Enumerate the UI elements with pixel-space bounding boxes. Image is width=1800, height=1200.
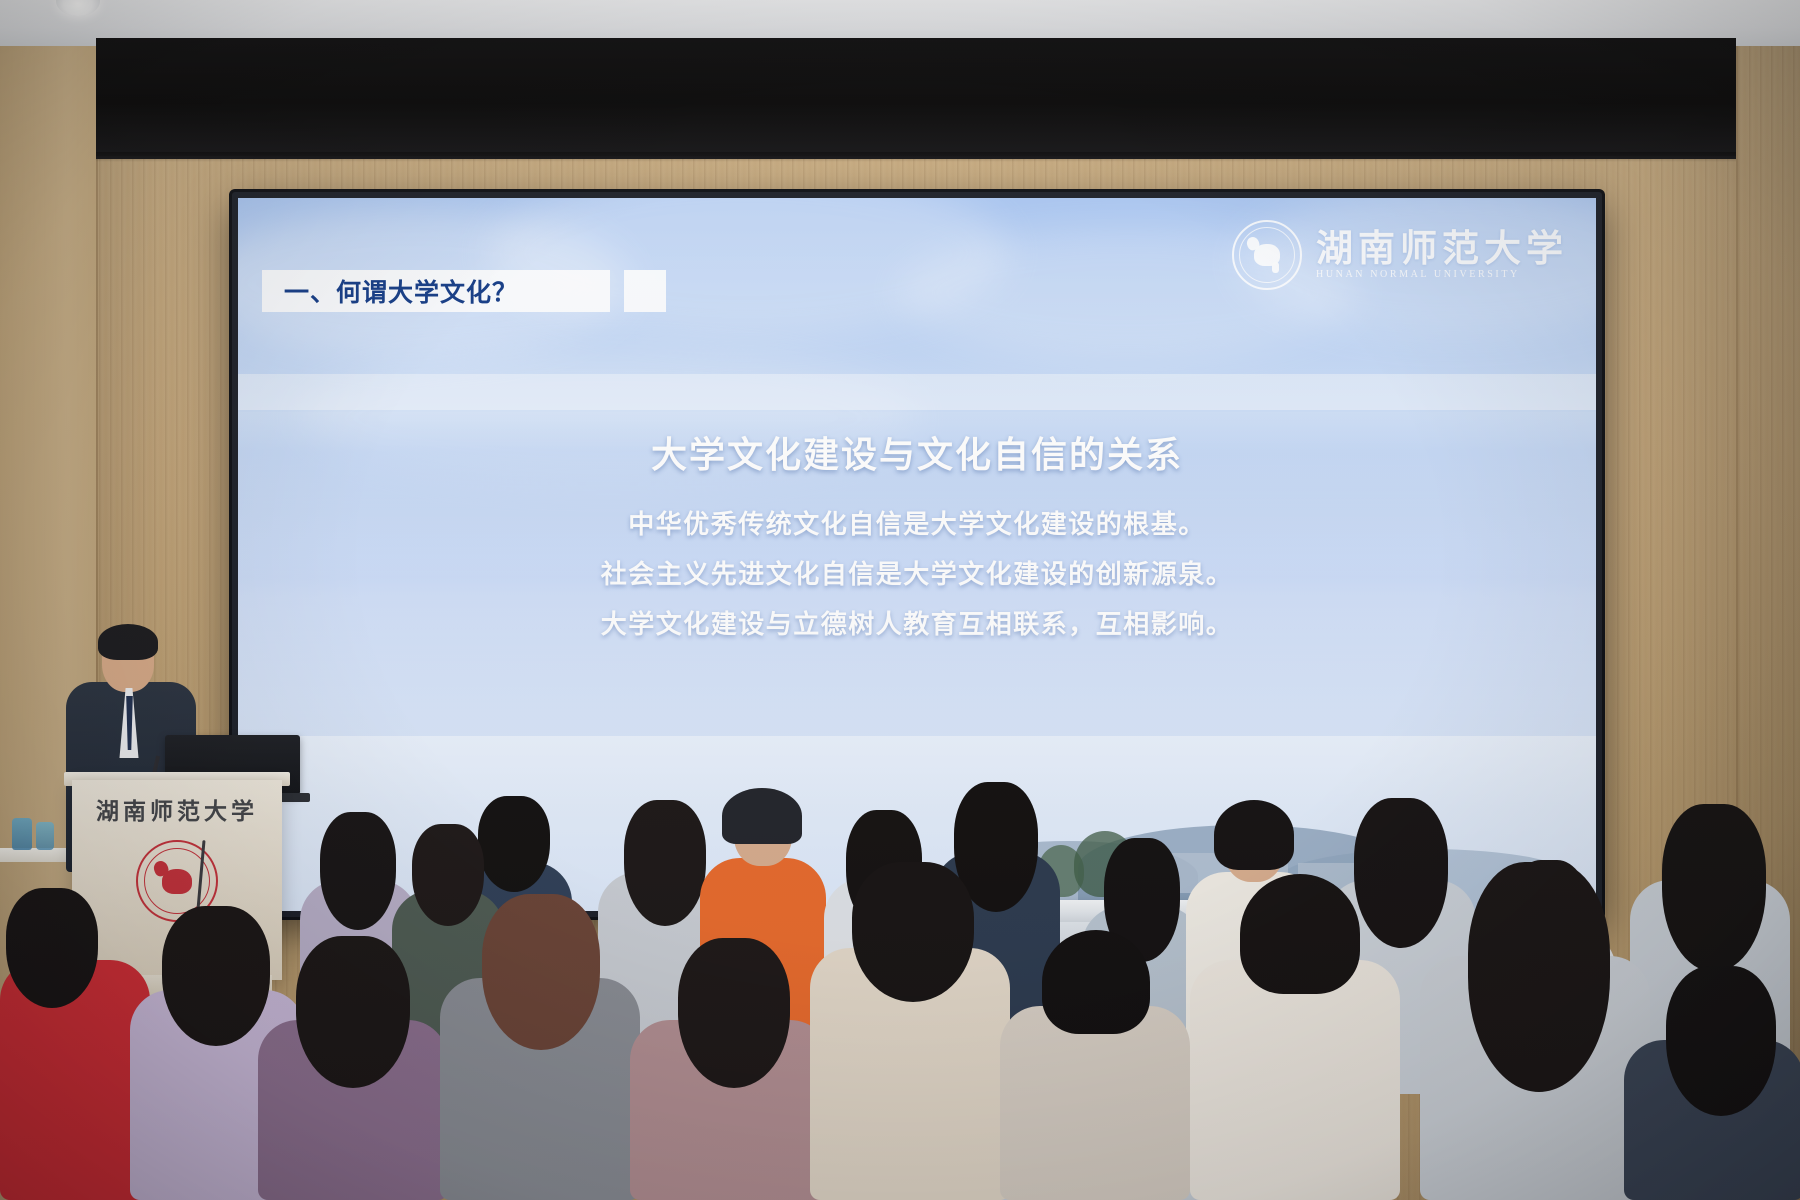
logo-text-group: 湖南师范大学 HUNAN NORMAL UNIVERSITY [1316,230,1568,280]
ribbon-tail-block [624,270,666,312]
lecture-hall-photo: 一、何谓大学文化？ 湖南师范大学 HUNAN NORMAL UNIVERSITY… [0,0,1800,1200]
speaker-hair [98,624,158,660]
podium-university-name: 湖南师范大学 [72,792,282,826]
logo-chinese-name: 湖南师范大学 [1316,230,1568,267]
water-bottle [12,818,32,850]
logo-english-name: HUNAN NORMAL UNIVERSITY [1316,270,1568,280]
slide-title: 大学文化建设与文化自信的关系 [238,426,1596,478]
slide-section-heading: 一、何谓大学文化？ [262,270,666,312]
valance-shadow [96,152,1736,162]
ribbon-gap [610,270,624,312]
university-logo: 湖南师范大学 HUNAN NORMAL UNIVERSITY [1232,220,1568,290]
slide-text-block: 大学文化建设与文化自信的关系 中华优秀传统文化自信是大学文化建设的根基。 社会主… [238,426,1596,650]
slide-line-1: 中华优秀传统文化自信是大学文化建设的根基。 [238,500,1596,550]
emblem-horse-glyph [162,869,192,894]
slide-upper-band [238,374,1596,410]
seal-horse-glyph [1254,244,1280,266]
section-heading-box: 一、何谓大学文化？ [262,270,610,312]
university-seal-horse-icon [1232,220,1302,290]
section-heading-text: 一、何谓大学文化？ [284,273,518,309]
slide-line-3: 大学文化建设与立德树人教育互相联系，互相影响。 [238,600,1596,650]
water-bottle [36,822,54,850]
ceiling-valance-band [96,38,1736,159]
slide-line-2: 社会主义先进文化自信是大学文化建设的创新源泉。 [238,550,1596,600]
